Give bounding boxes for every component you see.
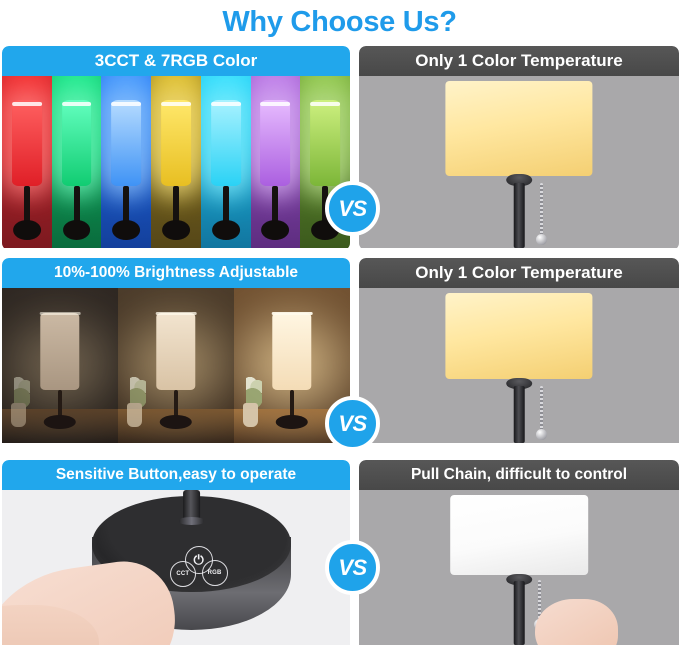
- lamp-shade: [161, 100, 191, 186]
- plant-decor: [125, 378, 148, 431]
- row2-good-scene: [2, 288, 350, 443]
- row3-good-title: Sensitive Button,easy to operate: [2, 460, 350, 490]
- row3-bad-scene: [359, 490, 679, 645]
- rgb-cell: [201, 76, 251, 248]
- rgb-cell: [2, 76, 52, 248]
- vs-badge: VS: [325, 540, 380, 595]
- lamp-shade: [211, 100, 241, 186]
- lamp-base: [44, 415, 76, 429]
- cct-button[interactable]: CCT: [170, 561, 196, 587]
- comparison-row-3: Sensitive Button,easy to operate ⏻ CCT R…: [0, 460, 679, 654]
- lamp-shade-rim: [272, 312, 313, 315]
- rgb-cell: [101, 76, 151, 248]
- lamp-shade-rim: [40, 312, 81, 315]
- lamp-base: [212, 220, 240, 240]
- pull-chain[interactable]: [540, 183, 543, 238]
- lamp-shade-rim: [62, 102, 92, 106]
- comparison-grid: 3CCT & 7RGB Color: [0, 46, 679, 654]
- lamp-shade: [62, 100, 92, 186]
- row2-bad-scene: [359, 288, 679, 443]
- lamp-base: [13, 220, 41, 240]
- plant-decor: [9, 378, 32, 431]
- lamp-shade-rim: [156, 312, 197, 315]
- lamp-shade: [272, 313, 311, 391]
- comparison-row-2: 10%-100% Brightness Adjustable: [0, 258, 679, 452]
- lamp-shade-rim: [261, 102, 291, 106]
- lamp-base: [112, 220, 140, 240]
- lamp-shade: [261, 100, 291, 186]
- row2-good-panel: 10%-100% Brightness Adjustable: [2, 258, 350, 452]
- vs-badge: VS: [325, 396, 380, 451]
- lamp-stem: [290, 390, 294, 418]
- lamp-stem: [174, 390, 178, 418]
- row2-good-title: 10%-100% Brightness Adjustable: [2, 258, 350, 288]
- row3-good-panel: Sensitive Button,easy to operate ⏻ CCT R…: [2, 460, 350, 654]
- pull-chain-knob[interactable]: [536, 234, 547, 245]
- row1-bad-title: Only 1 Color Temperature: [359, 46, 679, 76]
- lamp-pole: [514, 581, 525, 645]
- brightness-cell: [118, 288, 234, 443]
- lamp-shade-rim: [211, 102, 241, 106]
- plant-pot: [243, 403, 257, 427]
- row1-bad-scene: [359, 76, 679, 248]
- lamp-shade: [445, 293, 592, 380]
- lamp-shade: [111, 100, 141, 186]
- row3-good-scene: ⏻ CCT RGB: [2, 490, 350, 645]
- vs-badge: VS: [325, 181, 380, 236]
- lamp-pole: [514, 386, 525, 443]
- lamp-shade: [12, 100, 42, 186]
- lamp-shade-rim: [111, 102, 141, 106]
- lamp-shade-rim: [310, 102, 340, 106]
- lamp-shade: [156, 313, 195, 391]
- row2-bad-title: Only 1 Color Temperature: [359, 258, 679, 288]
- rgb-cell: [52, 76, 102, 248]
- brightness-strip: [2, 288, 350, 443]
- brightness-cell: [2, 288, 118, 443]
- page-title: Why Choose Us?: [0, 0, 679, 46]
- plant-decor: [241, 378, 264, 431]
- lamp-base: [262, 220, 290, 240]
- row1-bad-panel: Only 1 Color Temperature: [359, 46, 679, 250]
- row3-bad-panel: Pull Chain, difficult to control: [359, 460, 679, 654]
- lamp-base: [162, 220, 190, 240]
- row2-bad-panel: Only 1 Color Temperature: [359, 258, 679, 452]
- plant-pot: [11, 403, 25, 427]
- row1-good-title: 3CCT & 7RGB Color: [2, 46, 350, 76]
- hand-gripping-chain: [535, 599, 618, 646]
- lamp-base: [160, 415, 192, 429]
- plant-pot: [127, 403, 141, 427]
- lamp-shade: [445, 81, 592, 176]
- lamp-stem: [58, 390, 62, 418]
- lamp-base: [276, 415, 308, 429]
- comparison-row-1: 3CCT & 7RGB Color: [0, 46, 679, 250]
- row1-good-scene: [2, 76, 350, 248]
- lamp-shade-rim: [161, 102, 191, 106]
- lamp-collar: [179, 517, 205, 525]
- lamp-shade: [40, 313, 79, 391]
- rgb-cell: [151, 76, 201, 248]
- lamp-shade: [450, 495, 588, 576]
- rgb-button[interactable]: RGB: [202, 560, 228, 586]
- row1-good-panel: 3CCT & 7RGB Color: [2, 46, 350, 250]
- pull-chain[interactable]: [540, 386, 543, 433]
- pull-chain-knob[interactable]: [536, 429, 547, 440]
- lamp-shade: [310, 100, 340, 186]
- row3-bad-title: Pull Chain, difficult to control: [359, 460, 679, 490]
- lamp-base: [63, 220, 91, 240]
- rgb-color-strip: [2, 76, 350, 248]
- lamp-pole: [514, 183, 525, 248]
- lamp-shade-rim: [12, 102, 42, 106]
- rgb-cell: [251, 76, 301, 248]
